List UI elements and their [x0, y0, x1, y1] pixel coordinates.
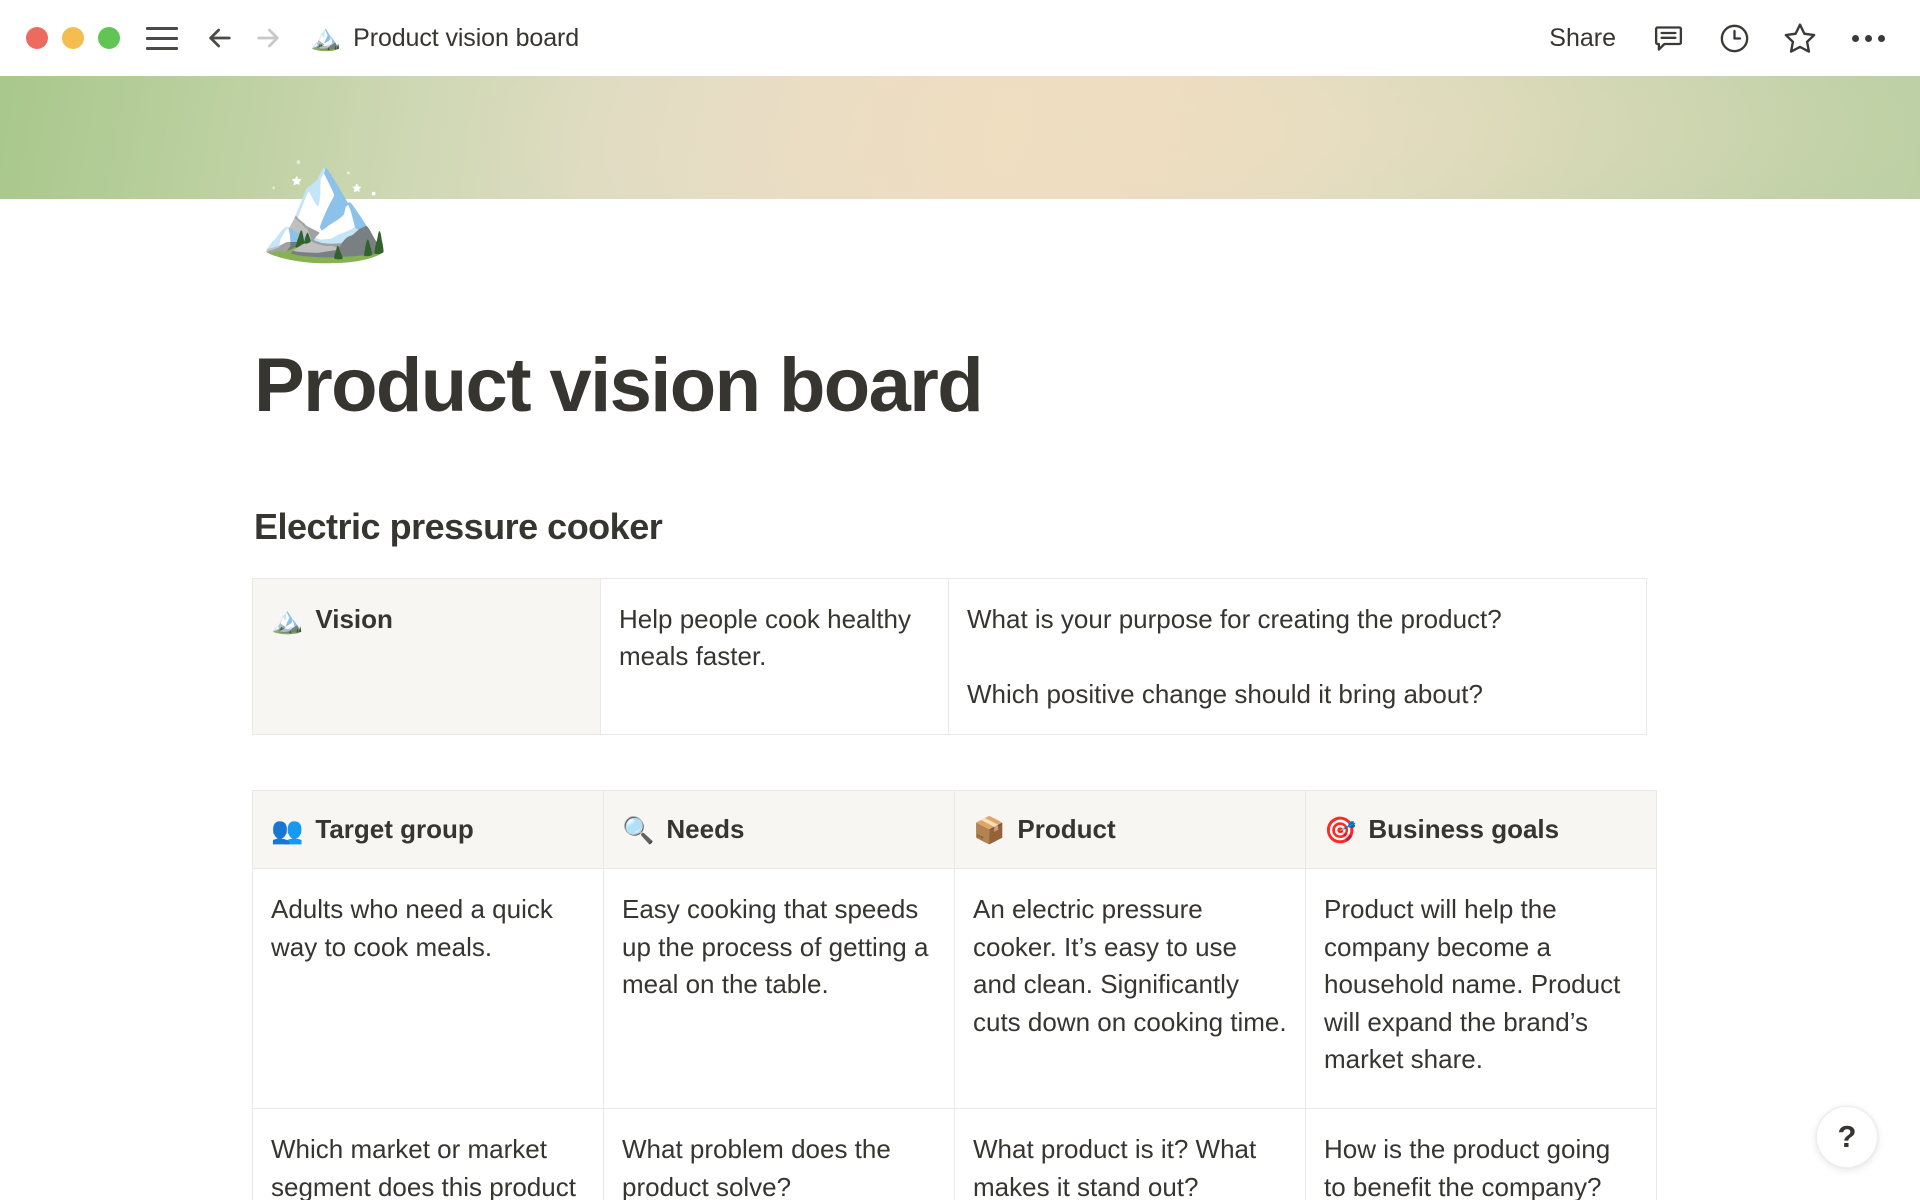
cell-target-group-hint[interactable]: Which market or market segment does this…: [253, 1109, 604, 1200]
cell-business-goals-hint[interactable]: How is the product going to benefit the …: [1306, 1109, 1657, 1200]
vision-label: Vision: [315, 601, 393, 638]
more-horizontal-icon[interactable]: [1846, 35, 1890, 42]
hamburger-line: [146, 47, 178, 50]
breadcrumb[interactable]: 🏔️ Product vision board: [310, 24, 579, 53]
star-icon[interactable]: [1780, 18, 1820, 58]
page-icon-mountain[interactable]: 🏔️: [258, 150, 392, 258]
more-dot: [1865, 35, 1872, 42]
hamburger-line: [146, 27, 178, 30]
canvas-table: 👥 Target group 🔍 Needs 📦 Produc: [252, 790, 1657, 1200]
minimize-window-button[interactable]: [62, 27, 84, 49]
target-icon: 🎯: [1324, 817, 1356, 843]
table-row: 🏔️ Vision Help people cook healthy meals…: [253, 579, 1647, 735]
cell-product-hint[interactable]: What product is it? What makes it stand …: [955, 1109, 1306, 1200]
page-subtitle-heading[interactable]: Electric pressure cooker: [254, 505, 662, 548]
close-window-button[interactable]: [26, 27, 48, 49]
arrow-left-icon[interactable]: [200, 18, 240, 58]
maximize-window-button[interactable]: [98, 27, 120, 49]
column-header-label: Target group: [315, 811, 473, 848]
vision-table: 🏔️ Vision Help people cook healthy meals…: [252, 578, 1647, 735]
arrow-right-icon[interactable]: [248, 18, 288, 58]
more-dot: [1852, 35, 1859, 42]
cell-target-group-value[interactable]: Adults who need a quick way to cook meal…: [253, 869, 604, 1109]
vision-label-cell[interactable]: 🏔️ Vision: [253, 579, 601, 735]
more-dot: [1878, 35, 1885, 42]
window-titlebar: 🏔️ Product vision board Share: [0, 0, 1920, 76]
comment-icon[interactable]: [1648, 18, 1688, 58]
clock-icon[interactable]: [1714, 18, 1754, 58]
canvas-table-viewport: 👥 Target group 🔍 Needs 📦 Produc: [0, 790, 1920, 1200]
page-title[interactable]: Product vision board: [254, 348, 982, 424]
hamburger-icon[interactable]: [146, 23, 180, 53]
vision-value-cell[interactable]: Help people cook healthy meals faster.: [601, 579, 949, 735]
package-icon: 📦: [973, 817, 1005, 843]
table-row: Adults who need a quick way to cook meal…: [253, 869, 1657, 1109]
share-button[interactable]: Share: [1543, 20, 1622, 57]
mountain-icon: 🏔️: [310, 26, 341, 51]
help-button[interactable]: ?: [1816, 1106, 1878, 1168]
hamburger-line: [146, 37, 178, 40]
cell-needs-value[interactable]: Easy cooking that speeds up the process …: [604, 869, 955, 1109]
column-header-business-goals[interactable]: 🎯 Business goals: [1306, 791, 1657, 869]
column-header-needs[interactable]: 🔍 Needs: [604, 791, 955, 869]
column-header-label: Product: [1017, 811, 1115, 848]
column-header-product[interactable]: 📦 Product: [955, 791, 1306, 869]
column-header-label: Needs: [666, 811, 744, 848]
table-row: Which market or market segment does this…: [253, 1109, 1657, 1200]
page-root: 🏔️ Product vision board Share: [0, 0, 1920, 1200]
window-traffic-lights: [26, 27, 120, 49]
column-header-label: Business goals: [1368, 811, 1559, 848]
cell-product-value[interactable]: An electric pressure cooker. It’s easy t…: [955, 869, 1306, 1109]
breadcrumb-title: Product vision board: [353, 24, 579, 53]
magnifier-icon: 🔍: [622, 817, 654, 843]
titlebar-actions: Share: [1543, 18, 1890, 58]
table-header-row: 👥 Target group 🔍 Needs 📦 Produc: [253, 791, 1657, 869]
mountain-icon: 🏔️: [271, 607, 303, 633]
vision-hint-cell[interactable]: What is your purpose for creating the pr…: [949, 579, 1647, 735]
column-header-target-group[interactable]: 👥 Target group: [253, 791, 604, 869]
vision-hint-2: Which positive change should it bring ab…: [967, 676, 1628, 713]
vision-hint-1: What is your purpose for creating the pr…: [967, 601, 1628, 638]
people-icon: 👥: [271, 817, 303, 843]
cell-business-goals-value[interactable]: Product will help the company become a h…: [1306, 869, 1657, 1109]
cell-needs-hint[interactable]: What problem does the product solve?: [604, 1109, 955, 1200]
